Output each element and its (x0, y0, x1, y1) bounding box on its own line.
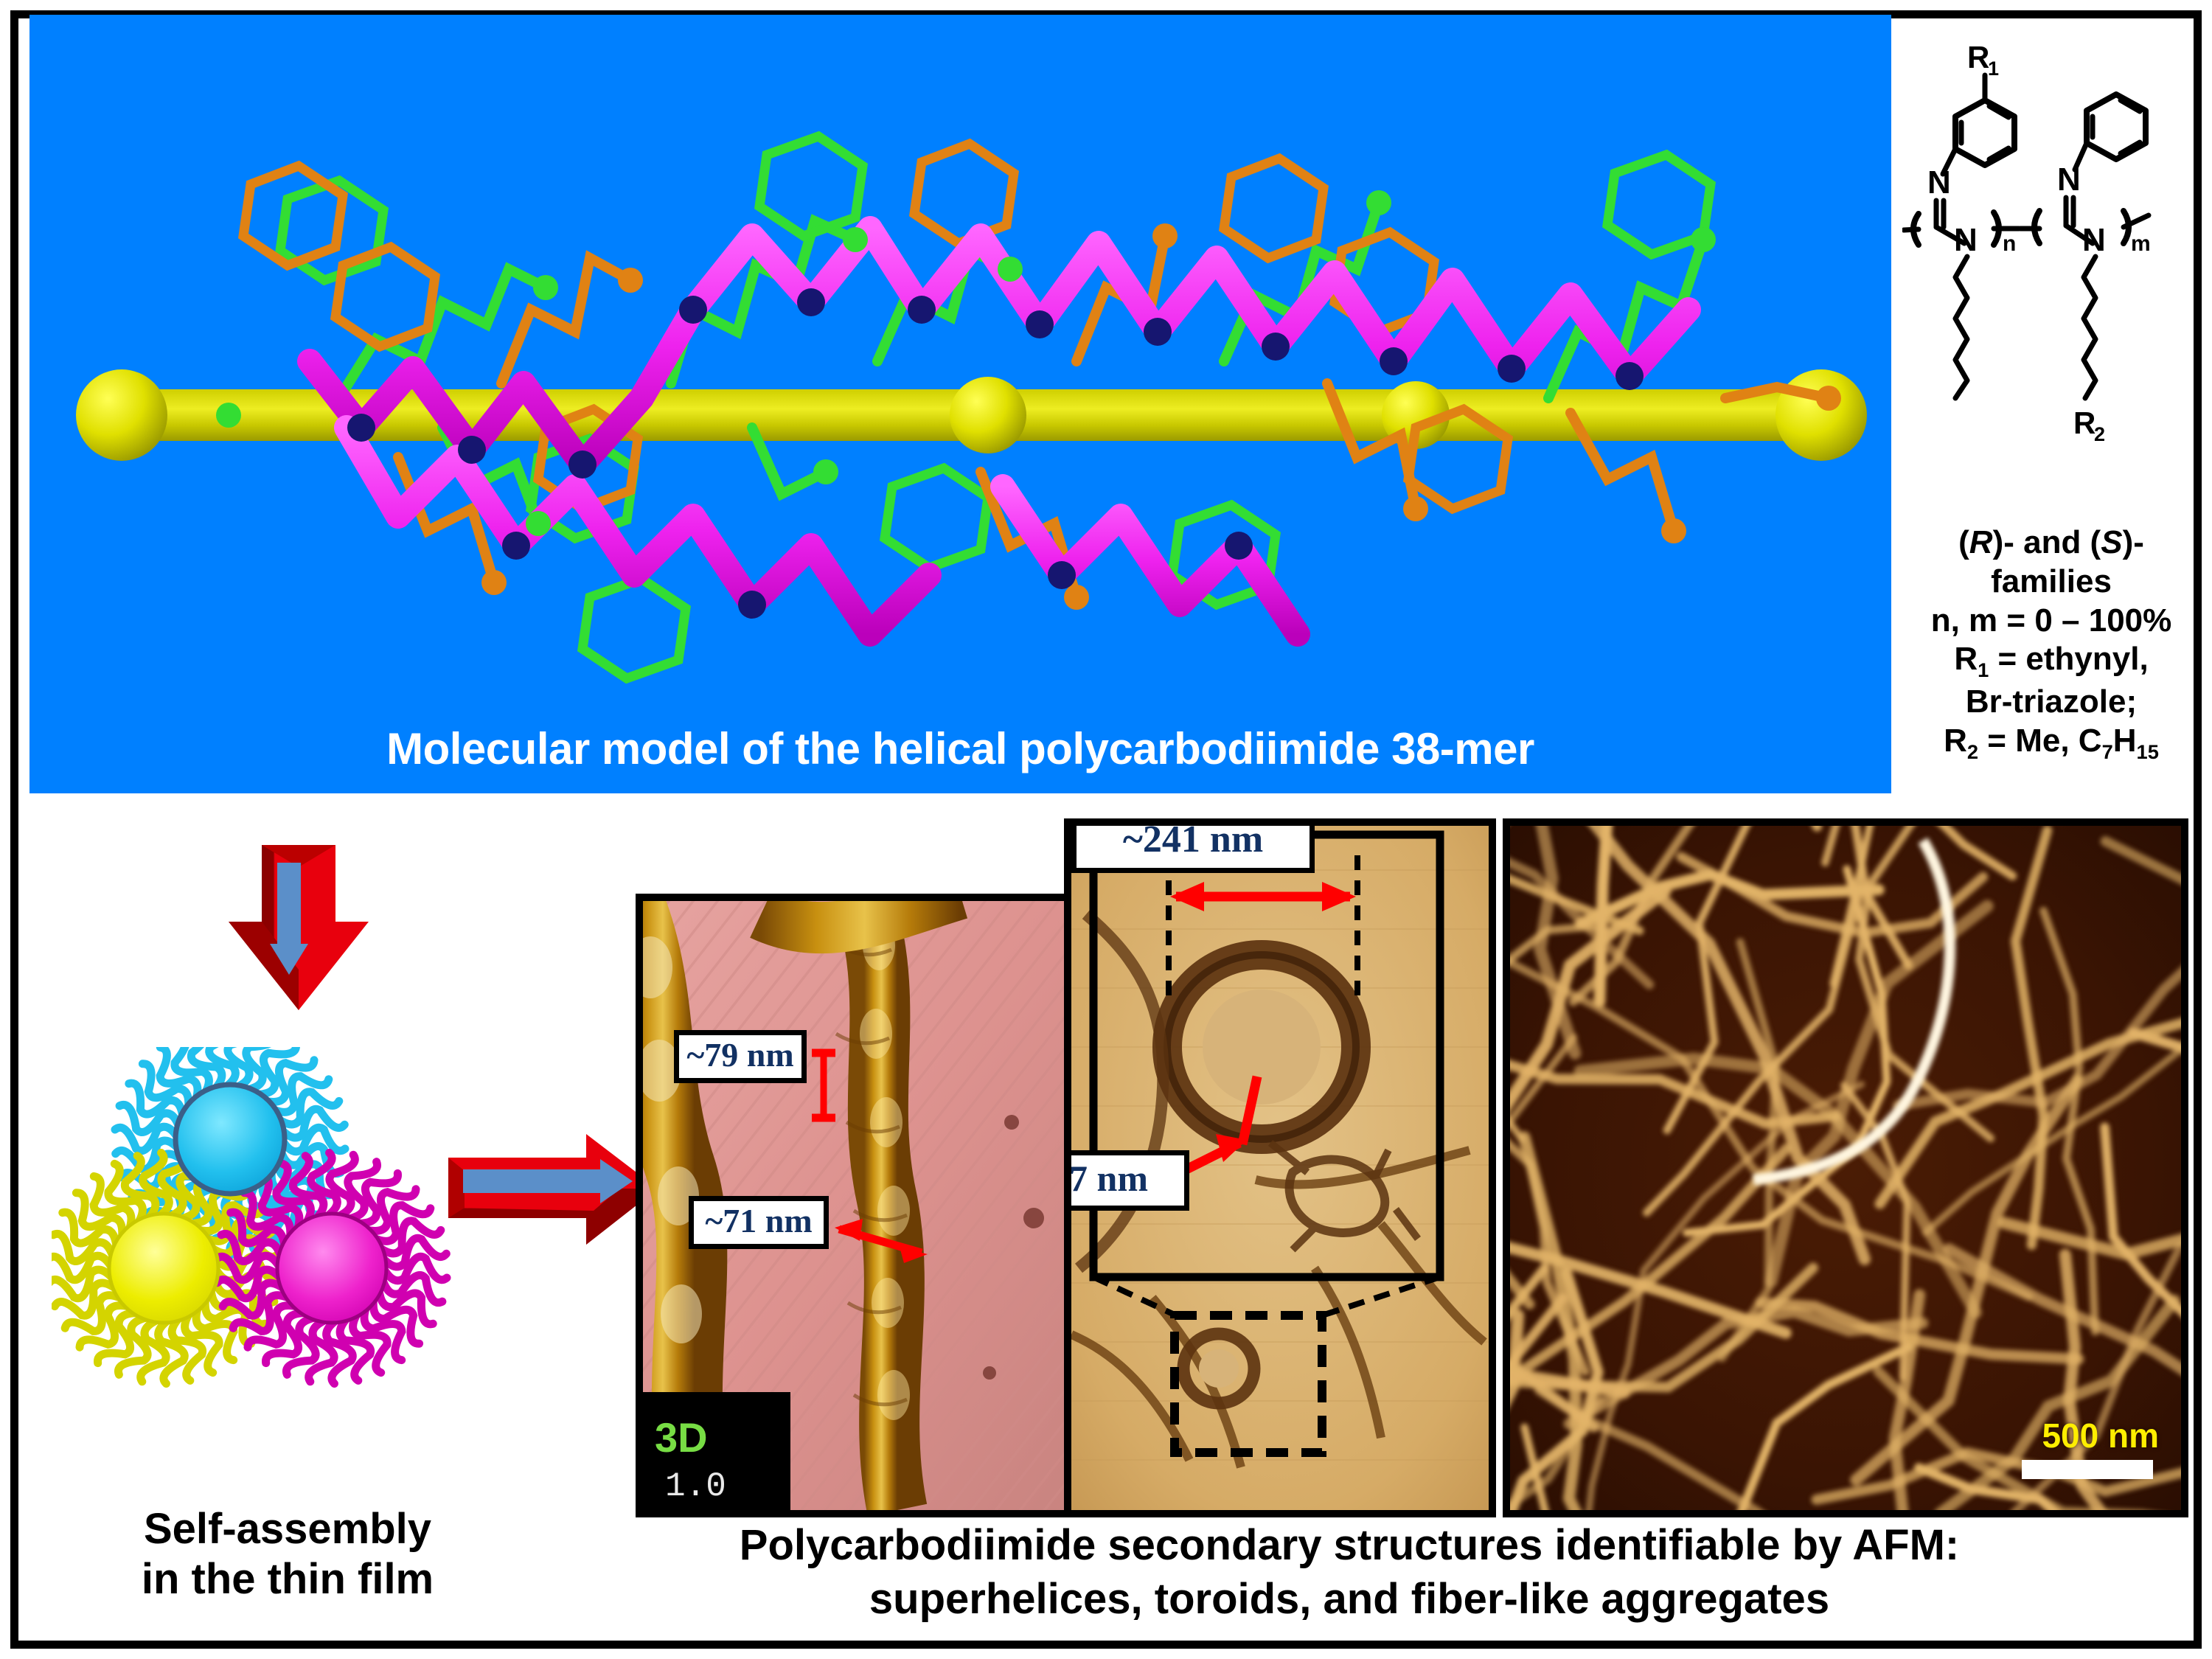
afm-caption: Polycarbodiimide secondary structures id… (560, 1519, 2138, 1626)
n-atom-lower-left: N (1954, 222, 1978, 258)
annotation-diameter-241: ~241 nm (1071, 818, 1315, 873)
legend-line-r1: R1 = ethynyl, (1902, 640, 2200, 683)
self-assembly-line1: Self-assembly (29, 1504, 546, 1554)
annotation-height-79: ~79 nm (674, 1030, 807, 1083)
r2-label: R (2073, 406, 2096, 440)
width-marker-71 (833, 1214, 929, 1266)
r2-legend-sub: 2 (1967, 740, 1978, 763)
afm-mode-label: 3D (655, 1413, 708, 1461)
chemistry-block: R 1 R 2 N N N N n m (R)- and (S)- famili… (1902, 22, 2200, 796)
right-arrow-icon (442, 1128, 664, 1261)
repeat-m-label: m (2131, 232, 2151, 256)
n-atom-lower-right: N (2082, 222, 2106, 258)
r1-label: R (1967, 40, 1989, 74)
h-symbol: H (2113, 723, 2137, 759)
annotation-width-71: ~71 nm (689, 1196, 829, 1249)
legend-line-families-stereo: (R)- and (S)- (1902, 524, 2200, 563)
r2-legend: R (1944, 723, 1967, 759)
self-assembly-line2: in the thin film (29, 1554, 546, 1604)
afm-caption-line2: superhelices, toroids, and fiber-like ag… (560, 1573, 2138, 1627)
legend-line-nm: n, m = 0 – 100% (1902, 602, 2200, 641)
afm-image-superhelix[interactable]: 3D 1.0 ~79 nm ~71 nm (636, 894, 1072, 1517)
r1-legend-sub: 1 (1978, 658, 1989, 681)
c7-sub: 7 (2102, 740, 2113, 763)
figure-root: Molecular model of the helical polycarbo… (0, 0, 2212, 1659)
afm-fiber-network-graphic (1510, 826, 2181, 1510)
polycarbodiimide-structure: R 1 R 2 N N N N n m (1902, 29, 2200, 516)
molecular-model-graphic (29, 15, 1891, 793)
n-atom-upper-right: N (2057, 161, 2081, 198)
r1-legend-value: = ethynyl, (1989, 641, 2148, 677)
micelle-core-cyan (175, 1085, 285, 1194)
legend-line-triazole: Br-triazole; (1902, 683, 2200, 722)
micelle-core-magenta (277, 1214, 386, 1323)
self-assembly-label: Self-assembly in the thin film (29, 1504, 546, 1605)
molecular-model-panel: Molecular model of the helical polycarbo… (29, 15, 1891, 793)
afm-image-fiber-network[interactable]: 500 nm (1503, 818, 2188, 1517)
h15-sub: 15 (2137, 740, 2159, 763)
height-marker-79 (809, 1048, 838, 1122)
n-atom-upper-left: N (1927, 164, 1951, 201)
annotation-thickness-67: ~67 nm (1064, 1150, 1189, 1211)
r2-subscript: 2 (2094, 423, 2105, 445)
scale-bar-label: 500 nm (2042, 1416, 2159, 1455)
repeat-n-label: n (2003, 232, 2016, 256)
micelle-core-yellow (109, 1214, 218, 1323)
legend-line-r2: R2 = Me, C7H15 (1902, 722, 2200, 765)
chemistry-legend: (R)- and (S)- families n, m = 0 – 100% R… (1902, 524, 2200, 764)
down-arrow-icon (221, 841, 376, 1032)
afm-scale-value: 1.0 (665, 1467, 726, 1506)
afm-image-toroid[interactable]: ~241 nm ~67 nm (1064, 818, 1496, 1517)
s-enantiomer: S (2101, 524, 2122, 560)
superhelix-strand-top (761, 901, 960, 928)
r1-subscript: 1 (1988, 58, 1999, 80)
r2-legend-value: = Me, C (1978, 723, 2102, 759)
scale-bar (2022, 1460, 2153, 1479)
r-enantiomer: R (1969, 524, 1993, 560)
afm-caption-line1: Polycarbodiimide secondary structures id… (560, 1519, 2138, 1573)
micelle-cluster-graphic (52, 1047, 524, 1489)
legend-line-families: families (1902, 563, 2200, 602)
model-caption: Molecular model of the helical polycarbo… (29, 723, 1891, 774)
r1-legend: R (1954, 641, 1978, 677)
